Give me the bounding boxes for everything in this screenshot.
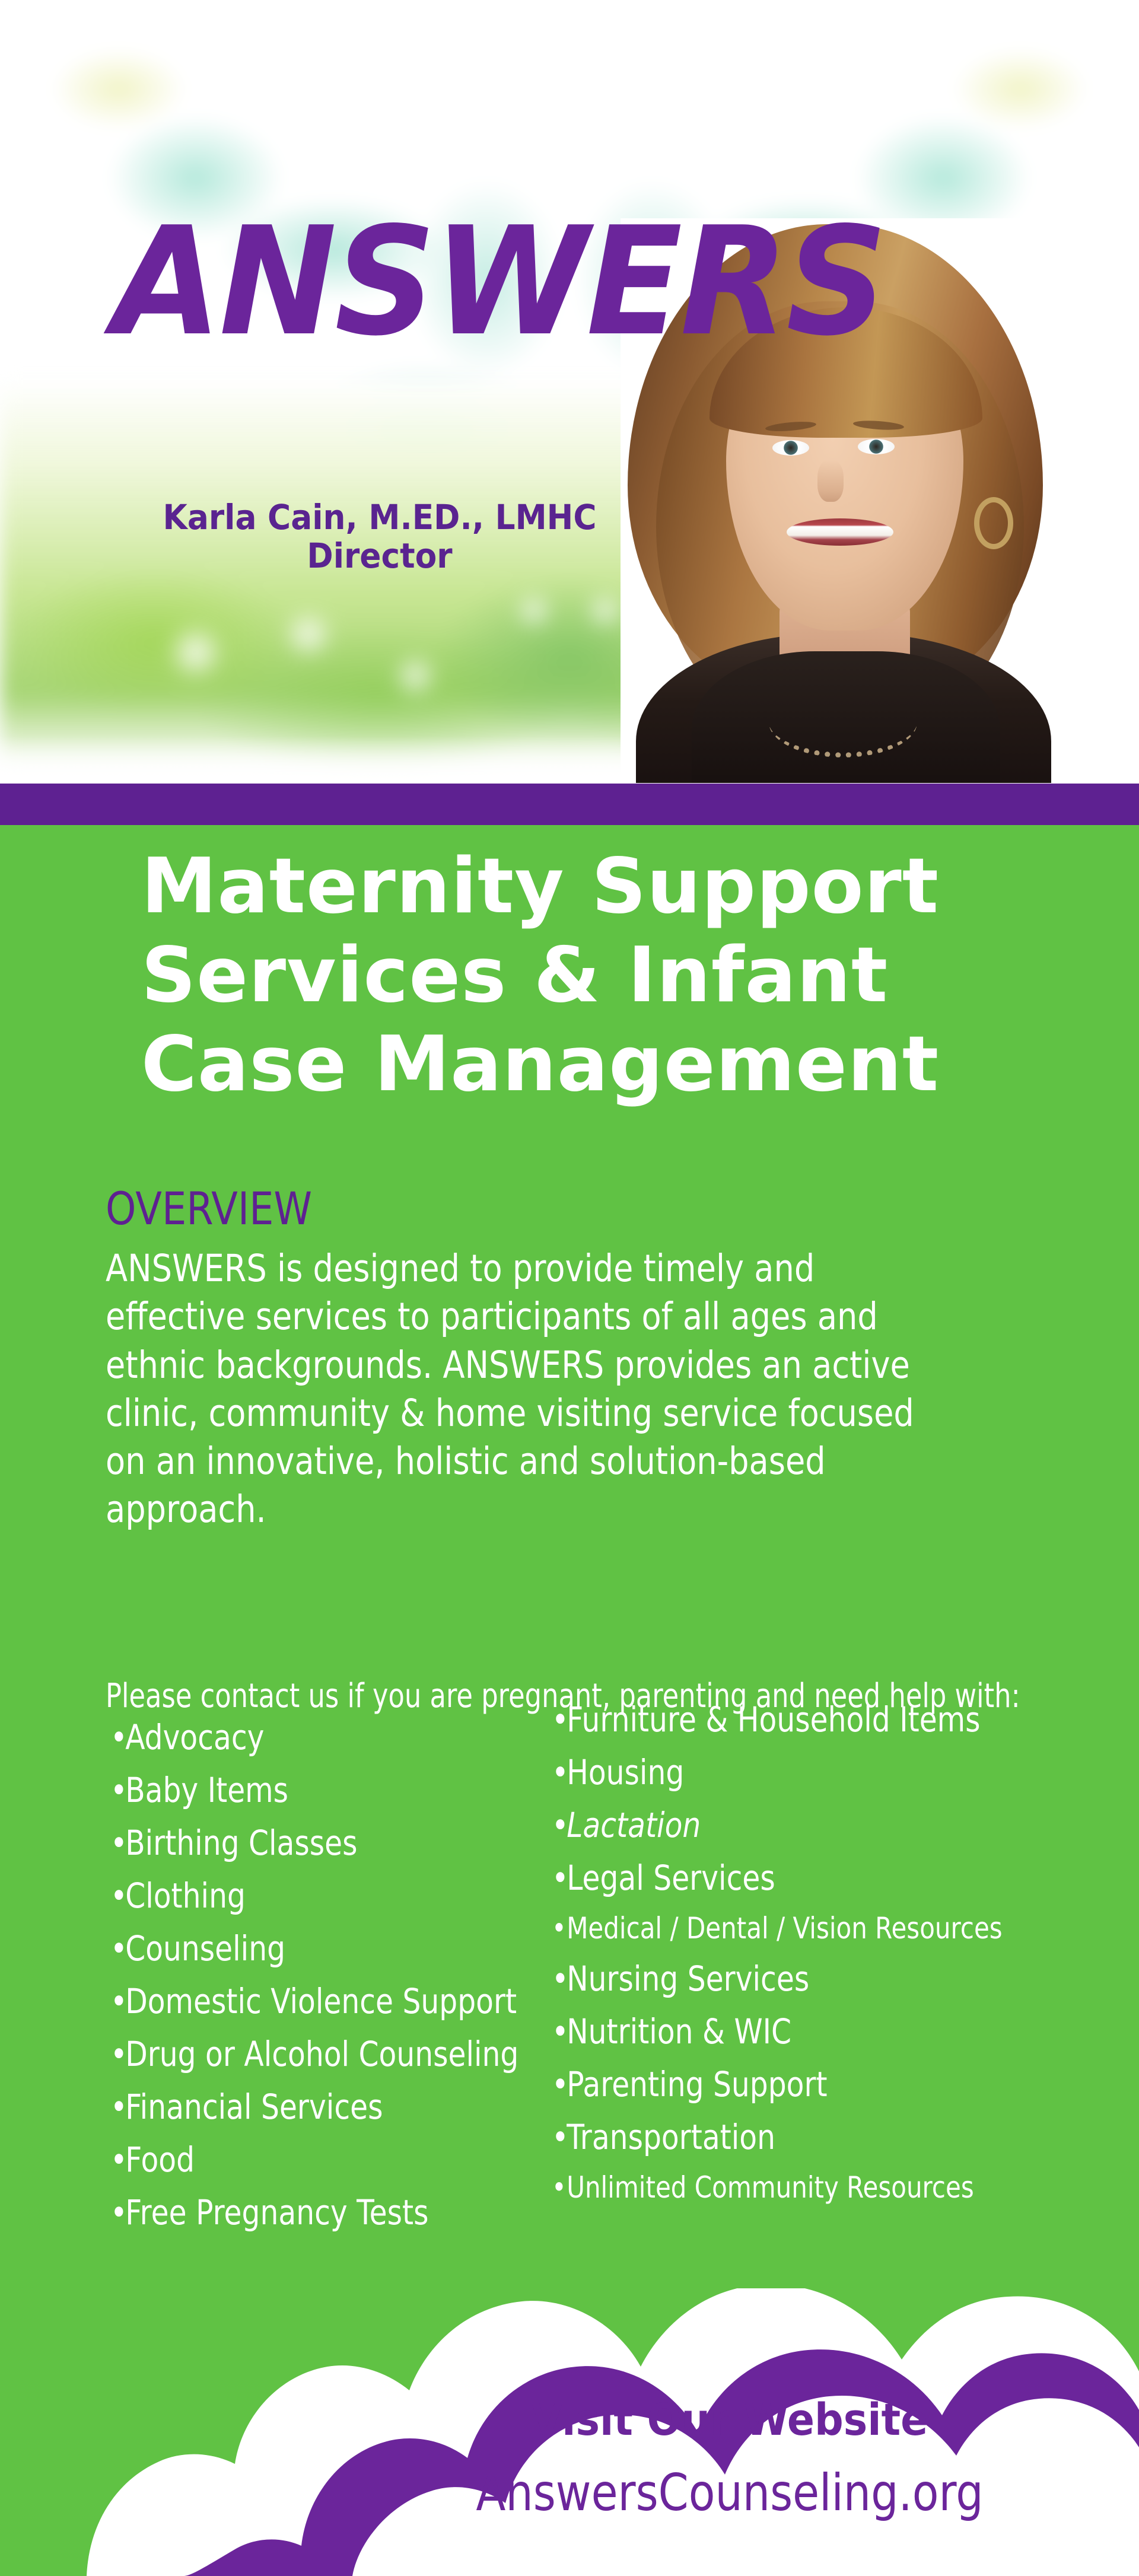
list-item: •Nutrition & WIC [552, 2014, 1100, 2049]
service-label: Transportation [567, 2117, 775, 2157]
service-label: Drug or Alcohol Counseling [125, 2034, 518, 2074]
services-list-right: •Furniture & Household Items •Housing •L… [552, 1702, 1139, 2221]
purple-divider-bar [0, 784, 1139, 825]
service-label: Clothing [125, 1876, 246, 1916]
bullet-icon: • [110, 2090, 125, 2124]
list-item: •Housing [552, 1755, 1100, 1789]
list-item: •Parenting Support [552, 2067, 1100, 2101]
list-item: •Birthing Classes [110, 1826, 609, 1860]
bullet-icon: • [552, 2014, 567, 2049]
service-label: Food [125, 2139, 195, 2180]
list-item: •Lactation [552, 1808, 1100, 1842]
service-label: Advocacy [125, 1717, 264, 1757]
nose [817, 460, 844, 502]
bullet-icon: • [552, 2067, 567, 2101]
service-label: Unlimited Community Resources [567, 2170, 974, 2205]
director-credit: Karla Cain, M.ED., LMHC Director [139, 498, 620, 575]
list-item: •Unlimited Community Resources [552, 2173, 1100, 2202]
page-title: Maternity Support Services & Infant Case… [141, 842, 1031, 1109]
list-item: •Advocacy [110, 1720, 609, 1755]
earring [974, 497, 1013, 549]
director-role: Director [139, 537, 620, 575]
service-label: Birthing Classes [125, 1823, 357, 1863]
service-label: Baby Items [125, 1770, 288, 1810]
director-name: Karla Cain, M.ED., LMHC [139, 498, 620, 537]
service-label: Free Pregnancy Tests [125, 2192, 428, 2233]
visit-website-cta: Visit Our Website [408, 2398, 1052, 2442]
bullet-icon: • [110, 2037, 125, 2071]
service-label: Medical / Dental / Vision Resources [567, 1911, 1002, 1945]
list-item: •Nursing Services [552, 1962, 1100, 1996]
bullet-icon: • [110, 1720, 125, 1755]
bullet-icon: • [552, 1913, 567, 1943]
bullet-icon: • [552, 1861, 567, 1895]
service-label: Parenting Support [567, 2064, 827, 2104]
bullet-icon: • [552, 2173, 567, 2202]
bullet-icon: • [110, 1773, 125, 1807]
service-label: Legal Services [567, 1858, 775, 1898]
eye-left [772, 440, 809, 456]
service-label: Furniture & Household Items [567, 1699, 980, 1740]
bullet-icon: • [552, 1702, 567, 1737]
page-title-line-1: Maternity Support [141, 842, 1031, 931]
bullet-icon: • [552, 1808, 567, 1842]
photo-edge-mask [1062, 218, 1139, 783]
list-item: •Medical / Dental / Vision Resources [552, 1913, 1100, 1943]
overview-heading: OVERVIEW [106, 1186, 312, 1231]
list-item: •Transportation [552, 2120, 1100, 2154]
list-item: •Drug or Alcohol Counseling [110, 2037, 609, 2071]
page-title-line-2: Services & Infant [141, 931, 1031, 1020]
list-item: •Legal Services [552, 1861, 1100, 1895]
mouth [787, 518, 893, 546]
bullet-icon: • [552, 2120, 567, 2154]
bullet-icon: • [110, 1878, 125, 1913]
eye-right [858, 439, 895, 454]
bullet-icon: • [110, 2195, 125, 2230]
organization-logo: ANSWERS [113, 208, 885, 357]
header-section: ANSWERS Karla Cain, M.ED., LMHC Director [0, 0, 1139, 783]
necklace [769, 687, 917, 757]
page-title-line-3: Case Management [141, 1020, 1031, 1109]
service-label: Counseling [125, 1928, 285, 1969]
service-label: Financial Services [125, 2087, 383, 2127]
list-item: •Domestic Violence Support [110, 1984, 609, 2018]
list-item: •Free Pregnancy Tests [110, 2195, 609, 2230]
bullet-icon: • [110, 2142, 125, 2177]
list-item: •Food [110, 2142, 609, 2177]
service-label: Nursing Services [567, 1959, 809, 1999]
bullet-icon: • [552, 1755, 567, 1789]
bullet-icon: • [110, 1826, 125, 1860]
service-label: Lactation [567, 1805, 701, 1845]
list-item: •Furniture & Household Items [552, 1702, 1100, 1737]
service-label: Nutrition & WIC [567, 2011, 791, 2052]
list-item: •Counseling [110, 1931, 609, 1966]
poster-root: ANSWERS Karla Cain, M.ED., LMHC Director… [0, 0, 1139, 2576]
bullet-icon: • [110, 1984, 125, 2018]
website-url[interactable]: AnswersCounseling.org [412, 2467, 1048, 2518]
service-label: Housing [567, 1752, 684, 1792]
list-item: •Financial Services [110, 2090, 609, 2124]
overview-paragraph: ANSWERS is designed to provide timely an… [106, 1244, 932, 1534]
service-label: Domestic Violence Support [125, 1981, 517, 2021]
list-item: •Clothing [110, 1878, 609, 1913]
bullet-icon: • [552, 1962, 567, 1996]
list-item: •Baby Items [110, 1773, 609, 1807]
bullet-icon: • [110, 1931, 125, 1966]
